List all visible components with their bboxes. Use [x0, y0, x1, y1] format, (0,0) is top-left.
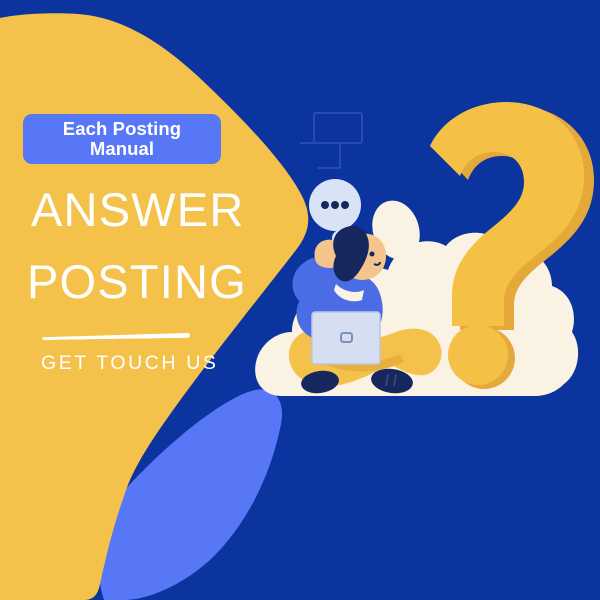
illustration-group	[0, 0, 600, 600]
thought-bubble-dot-3	[341, 201, 349, 209]
laptop-icon	[312, 312, 380, 364]
badge-label: Each Posting Manual	[57, 119, 187, 159]
badge-each-posting-manual[interactable]: Each Posting Manual	[23, 114, 221, 164]
question-mark-dot	[448, 325, 508, 385]
thought-bubble-dot-2	[331, 201, 339, 209]
person-eye	[370, 252, 375, 257]
promo-poster: Each Posting Manual ANSWER POSTING GET T…	[0, 0, 600, 600]
thought-bubble-dot-1	[321, 201, 329, 209]
